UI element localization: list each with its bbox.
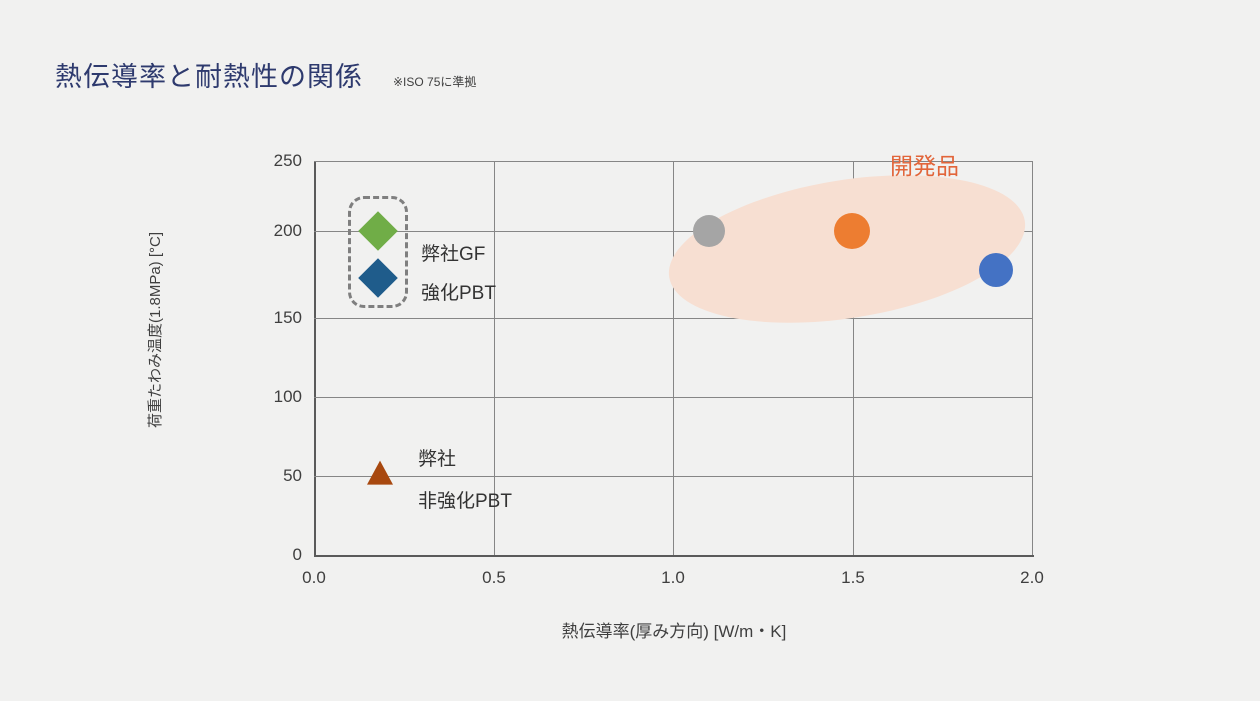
gridline-x-1.0 xyxy=(673,161,674,555)
title-block: 熱伝導率と耐熱性の関係 ※ISO 75に準拠 xyxy=(55,55,476,94)
label-plain-line1: 弊社 xyxy=(418,444,456,471)
ytick-150: 150 xyxy=(242,308,302,328)
ytick-100: 100 xyxy=(242,387,302,407)
point-dev-blue-circle[interactable] xyxy=(979,253,1013,287)
ytick-0: 0 xyxy=(242,545,302,565)
standard-note: ※ISO 75に準拠 xyxy=(393,73,476,90)
xtick-2.0: 2.0 xyxy=(992,568,1072,588)
point-plain-pbt-triangle[interactable] xyxy=(367,461,393,485)
x-axis-title: 熱伝導率(厚み方向) [W/m・K] xyxy=(314,617,1034,642)
ytick-200: 200 xyxy=(242,221,302,241)
xtick-1.5: 1.5 xyxy=(813,568,893,588)
xtick-1.0: 1.0 xyxy=(633,568,713,588)
label-gf-line2: 強化PBT xyxy=(421,278,496,305)
y-axis-title: 荷重たわみ温度(1.8MPa) [°C] xyxy=(144,180,165,480)
xtick-0.0: 0.0 xyxy=(274,568,354,588)
point-dev-orange-circle[interactable] xyxy=(834,213,870,249)
x-axis-line xyxy=(314,555,1034,557)
label-gf-line1: 弊社GF xyxy=(421,239,485,266)
gridline-x-2.0 xyxy=(1032,161,1033,555)
ytick-250: 250 xyxy=(242,151,302,171)
xtick-0.5: 0.5 xyxy=(454,568,534,588)
development-group-label: 開発品 xyxy=(890,147,959,181)
y-axis-ticks: 250 200 150 100 50 0 xyxy=(236,161,302,555)
point-dev-gray-circle[interactable] xyxy=(693,215,725,247)
x-axis-ticks: 0.0 0.5 1.0 1.5 2.0 xyxy=(314,568,1034,594)
page-title: 熱伝導率と耐熱性の関係 xyxy=(55,55,363,94)
ytick-50: 50 xyxy=(242,466,302,486)
label-plain-line2: 非強化PBT xyxy=(418,486,512,513)
